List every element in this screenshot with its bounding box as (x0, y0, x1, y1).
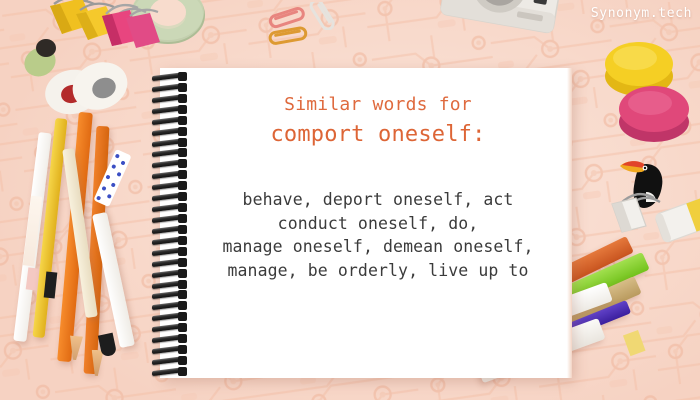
notebook: Similar words for comport oneself: behav… (152, 68, 572, 378)
binder-clip-pink-2 (122, 6, 172, 52)
page-content: Similar words for comport oneself: behav… (194, 92, 562, 282)
spiral-coil (152, 336, 196, 341)
spiral-coil (152, 314, 196, 319)
spiral-coil (152, 129, 196, 134)
spiral-coil (152, 249, 196, 254)
spiral-coil (152, 107, 196, 112)
spiral-binding (152, 74, 196, 374)
spiral-coil (152, 292, 196, 297)
synonyms-text: behave, deport oneself, act conduct ones… (194, 188, 562, 282)
spiral-coil (152, 183, 196, 188)
spiral-coil (152, 140, 196, 145)
spiral-coil (152, 74, 196, 79)
spiral-coil (152, 194, 196, 199)
macaron-pink (614, 78, 694, 144)
page-title-prefix: Similar words for (194, 92, 562, 118)
paper-clip-orange (266, 24, 312, 48)
spiral-coil (152, 303, 196, 308)
spiral-coil (152, 358, 196, 363)
spiral-coil (152, 150, 196, 155)
eraser-white-gray (68, 60, 132, 112)
spiral-coil (152, 347, 196, 352)
spiral-coil (152, 238, 196, 243)
spiral-coil (152, 271, 196, 276)
spiral-coil (152, 260, 196, 265)
spiral-coil (152, 172, 196, 177)
camera (436, 0, 566, 42)
notebook-page: Similar words for comport oneself: behav… (160, 68, 572, 378)
spiral-coil (152, 227, 196, 232)
spiral-coil (152, 161, 196, 166)
spiral-coil (152, 96, 196, 101)
site-watermark: Synonym.tech (591, 6, 692, 21)
page-edge-shadow (567, 68, 572, 378)
spiral-coil (152, 369, 196, 374)
spiral-coil (152, 205, 196, 210)
glue-stick (652, 192, 700, 250)
spiral-coil (152, 216, 196, 221)
spiral-coil (152, 118, 196, 123)
page-title-headword: comport oneself: (194, 120, 562, 150)
spiral-coil (152, 325, 196, 330)
spiral-coil (152, 282, 196, 287)
spiral-coil (152, 85, 196, 90)
